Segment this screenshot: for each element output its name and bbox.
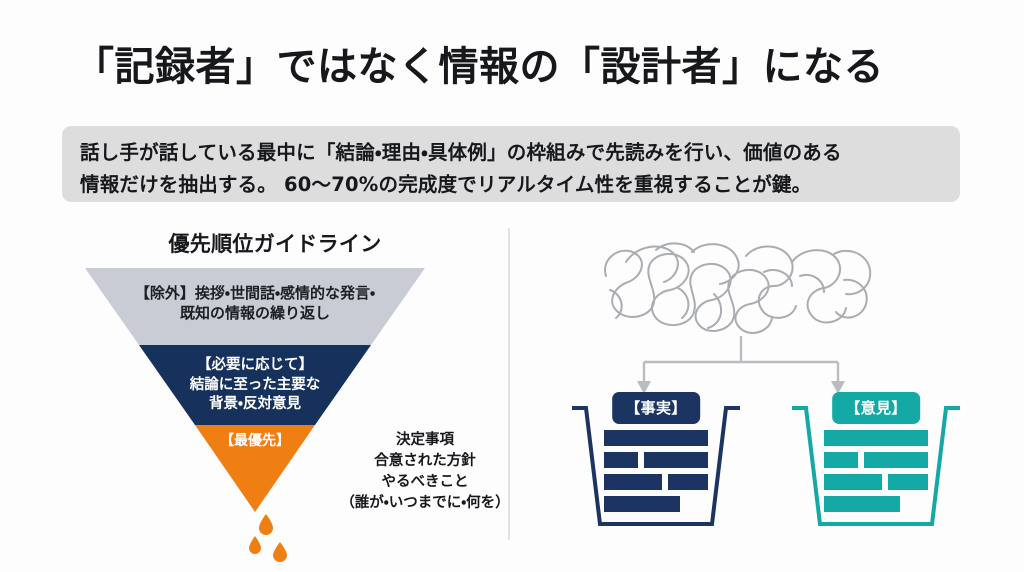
basket-fact-label: 【事実】 bbox=[612, 392, 700, 424]
funnel-tier-optional-shape bbox=[139, 345, 371, 425]
funnel-tier-exclude-shape bbox=[85, 268, 425, 345]
slide-root: 「記録者」ではなく情報の「設計者」になる 話し手が話している最中に「結論・理由・… bbox=[0, 0, 1024, 572]
split-connector-arrows bbox=[596, 336, 886, 398]
basket-opinion: 【意見】 bbox=[776, 392, 976, 544]
funnel-side-note: 決定事項 合意された方針 やるべきこと （誰が・いつまでに・何を） bbox=[330, 430, 520, 514]
subtitle-line-1: 話し手が話している最中に「結論・理由・具体例」の枠組みで先読みを行い、価値のある bbox=[80, 137, 942, 169]
funnel-drips bbox=[236, 508, 322, 564]
funnel-tier-top-priority-shape bbox=[195, 425, 315, 512]
tangled-scribble-icon bbox=[596, 232, 876, 344]
side-note-line-4: （誰が・いつまでに・何を） bbox=[330, 493, 520, 514]
subtitle-line-2: 情報だけを抽出する。 60〜70%の完成度でリアルタイム性を重視することが鍵。 bbox=[80, 169, 942, 201]
basket-opinion-label: 【意見】 bbox=[832, 392, 920, 424]
side-note-line-1: 決定事項 bbox=[330, 430, 520, 451]
funnel-heading: 優先順位ガイドライン bbox=[110, 228, 440, 258]
subtitle-box: 話し手が話している最中に「結論・理由・具体例」の枠組みで先読みを行い、価値のある… bbox=[62, 126, 960, 202]
side-note-line-3: やるべきこと bbox=[330, 472, 520, 493]
basket-fact: 【事実】 bbox=[556, 392, 756, 544]
side-note-line-2: 合意された方針 bbox=[330, 451, 520, 472]
page-title: 「記録者」ではなく情報の「設計者」になる bbox=[74, 44, 974, 90]
